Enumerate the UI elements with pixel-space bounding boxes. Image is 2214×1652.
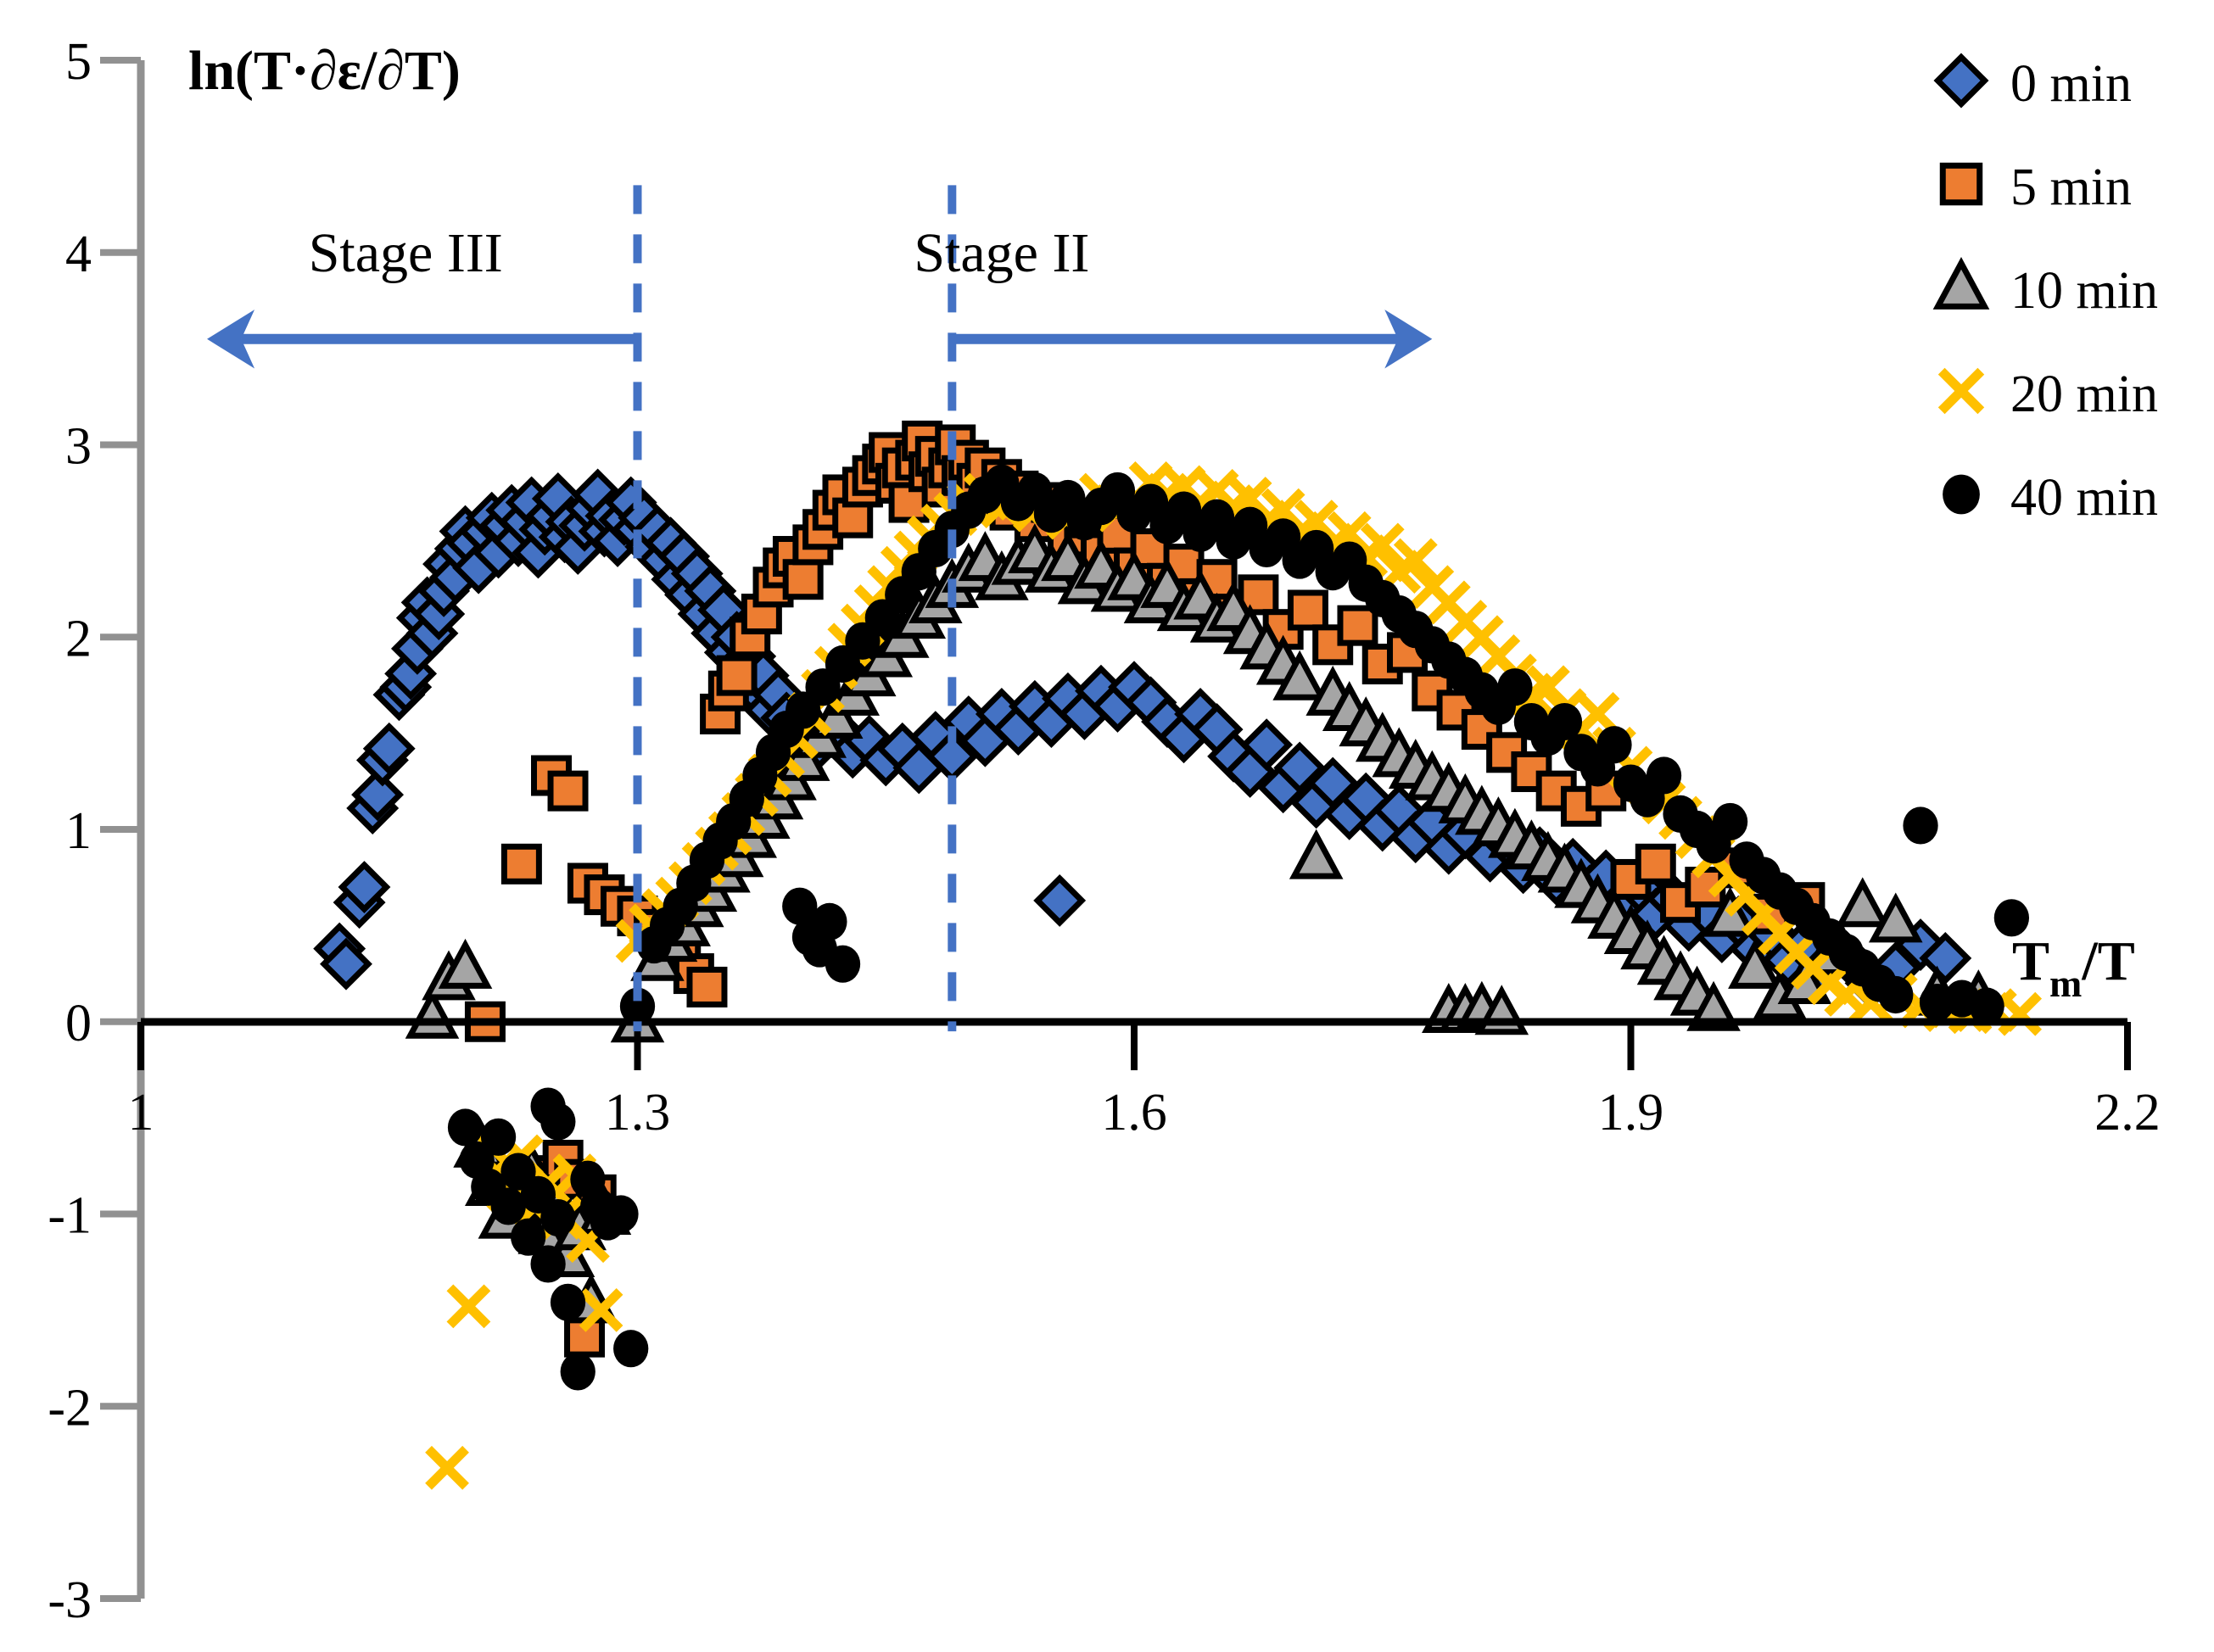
x-tick-label: 1 xyxy=(128,1084,154,1141)
y-tick-label: 4 xyxy=(65,226,92,283)
data-point-circle xyxy=(561,1353,595,1390)
data-point-circle xyxy=(481,1119,516,1156)
data-point-square xyxy=(1290,593,1325,628)
stage-label: Stage III xyxy=(309,222,503,284)
data-point-circle xyxy=(1596,726,1631,763)
data-point-circle xyxy=(1878,976,1913,1013)
x-axis-title: Tm/T xyxy=(2012,930,2135,1005)
x-tick-label: 1.3 xyxy=(605,1084,671,1141)
legend-marker-square xyxy=(1943,165,1979,202)
legend-marker-cross xyxy=(1942,371,1982,411)
legend-marker-diamond xyxy=(1937,57,1984,103)
legend-marker-triangle xyxy=(1938,263,1985,306)
legend-label: 5 min xyxy=(2010,159,2132,216)
y-axis-ticks xyxy=(100,60,141,1599)
legend-item-5-min[interactable]: 5 min xyxy=(1943,159,2132,216)
legend-item-0-min[interactable]: 0 min xyxy=(1937,55,2132,113)
x-axis-title-base: T xyxy=(2012,930,2049,992)
data-point-square xyxy=(786,562,820,597)
data-point-circle xyxy=(613,1330,648,1367)
x-tick-label: 2.2 xyxy=(2094,1084,2161,1141)
data-point-circle xyxy=(1497,668,1532,706)
y-tick-label: 5 xyxy=(65,33,92,91)
data-point-circle xyxy=(448,1108,483,1146)
data-point-triangle xyxy=(1294,835,1339,876)
x-axis-title-rest: /T xyxy=(2081,930,2134,992)
stage-label: Stage II xyxy=(914,222,1089,284)
x-axis-tick-labels: 11.31.61.92.2 xyxy=(128,1084,2161,1141)
stage-annotations-layer: Stage IIIStage II xyxy=(207,222,1432,369)
x-axis-title-subscript: m xyxy=(2049,962,2082,1005)
y-tick-label: 2 xyxy=(65,610,92,667)
y-axis-title: ln(T·∂ε/∂T) xyxy=(188,40,461,102)
data-point-triangle xyxy=(1841,884,1885,924)
y-axis-tick-labels: 543210-1-2-3 xyxy=(48,33,92,1629)
data-point-square xyxy=(1340,608,1375,643)
data-point-cross xyxy=(450,1287,487,1325)
data-point-circle xyxy=(812,903,847,940)
y-tick-label: 3 xyxy=(65,418,92,476)
data-point-circle xyxy=(1903,806,1937,844)
legend[interactable]: 0 min5 min10 min20 min40 min xyxy=(1937,55,2158,527)
legend-label: 10 min xyxy=(2010,262,2158,320)
y-tick-label: -3 xyxy=(48,1571,92,1629)
data-point-square xyxy=(719,658,754,693)
data-markers-layer xyxy=(317,423,2038,1486)
chart-canvas: 543210-1-2-3 11.31.61.92.2 Stage IIIStag… xyxy=(0,0,2214,1652)
data-point-circle xyxy=(551,1284,585,1321)
y-tick-label: 1 xyxy=(65,802,92,860)
legend-item-20-min[interactable]: 20 min xyxy=(1942,366,2158,423)
y-tick-label: -2 xyxy=(48,1379,92,1437)
data-point-circle xyxy=(1713,803,1747,840)
y-tick-label: -1 xyxy=(48,1187,92,1245)
y-tick-label: 0 xyxy=(65,995,92,1052)
data-point-circle xyxy=(530,1245,565,1282)
data-point-cross xyxy=(2001,996,2038,1033)
data-point-cross xyxy=(428,1449,466,1487)
data-point-square xyxy=(504,846,539,881)
legend-item-10-min[interactable]: 10 min xyxy=(1938,262,2158,320)
svg-text:Tm/T: Tm/T xyxy=(2012,930,2135,1005)
scatter-plot-svg: 543210-1-2-3 11.31.61.92.2 Stage IIIStag… xyxy=(0,0,2214,1652)
data-point-diamond xyxy=(1037,879,1082,923)
data-point-triangle xyxy=(411,995,455,1035)
data-point-circle xyxy=(491,1187,526,1225)
data-point-circle xyxy=(825,946,860,983)
x-tick-label: 1.9 xyxy=(1598,1084,1664,1141)
data-point-square xyxy=(690,969,724,1004)
legend-label: 0 min xyxy=(2010,55,2132,113)
data-point-circle xyxy=(1647,756,1681,794)
x-tick-label: 1.6 xyxy=(1101,1084,1167,1141)
data-point-circle xyxy=(540,1103,575,1141)
legend-marker-circle xyxy=(1943,475,1980,515)
legend-item-40-min[interactable]: 40 min xyxy=(1943,469,2158,527)
data-point-square xyxy=(1638,846,1673,881)
data-point-circle xyxy=(540,1199,575,1236)
legend-label: 20 min xyxy=(2010,366,2158,423)
data-point-circle xyxy=(603,1195,638,1232)
data-point-square xyxy=(551,773,585,808)
legend-label: 40 min xyxy=(2010,469,2158,527)
